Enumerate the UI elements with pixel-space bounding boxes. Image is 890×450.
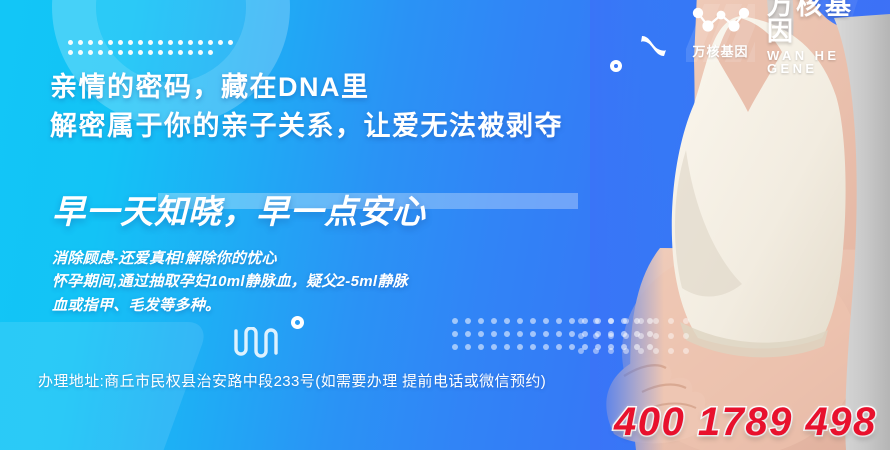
headline-line-2: 解密属于你的亲子关系，让爱无法被剥夺 (50, 107, 563, 146)
decorative-dot (578, 348, 584, 354)
logo-badge-text: 万核基因 (693, 41, 749, 60)
dot-grid-top-left (68, 40, 238, 60)
dna-molecule-icon (690, 6, 752, 39)
decorative-dot (578, 333, 584, 339)
body-copy: 消除顾虑-还爱真相!解除你的忧心 怀孕期间,通过抽取孕妇10ml静脉血，疑父2-… (52, 247, 408, 317)
logo-brand-en: WAN HE GENE (767, 49, 882, 75)
logo-wordmark: 万核基因 WAN HE GENE (767, 0, 882, 75)
headline-line-1: 亲情的密码，藏在DNA里 (50, 68, 563, 107)
decorative-dot (578, 318, 584, 324)
ring-small-center-decoration (291, 316, 304, 329)
logo-brand-cn: 万核基因 (767, 0, 882, 44)
body-line-2: 怀孕期间,通过抽取孕妇10ml静脉血，疑父2-5ml静脉 (52, 270, 408, 293)
brand-logo[interactable]: 万核基因 万核基因 WAN HE GENE (686, 2, 882, 64)
headline: 亲情的密码，藏在DNA里 解密属于你的亲子关系，让爱无法被剥夺 (50, 68, 563, 147)
body-line-3: 血或指甲、毛发等多种。 (52, 294, 408, 317)
subheadline: 早一天知晓，早一点安心 (52, 185, 426, 233)
phone-number[interactable]: 400 1789 498 (614, 400, 877, 445)
promotional-banner: 万核基因 万核基因 WAN HE GENE 亲情的密码，藏在DNA里 解密属于你… (0, 0, 890, 450)
body-line-1: 消除顾虑-还爱真相!解除你的忧心 (52, 247, 408, 270)
logo-badge: 万核基因 (686, 4, 755, 62)
squiggle-wave-decoration (232, 327, 290, 366)
address-text: 办理地址:商丘市民权县治安路中段233号(如需要办理 提前电话或微信预约) (38, 370, 546, 391)
